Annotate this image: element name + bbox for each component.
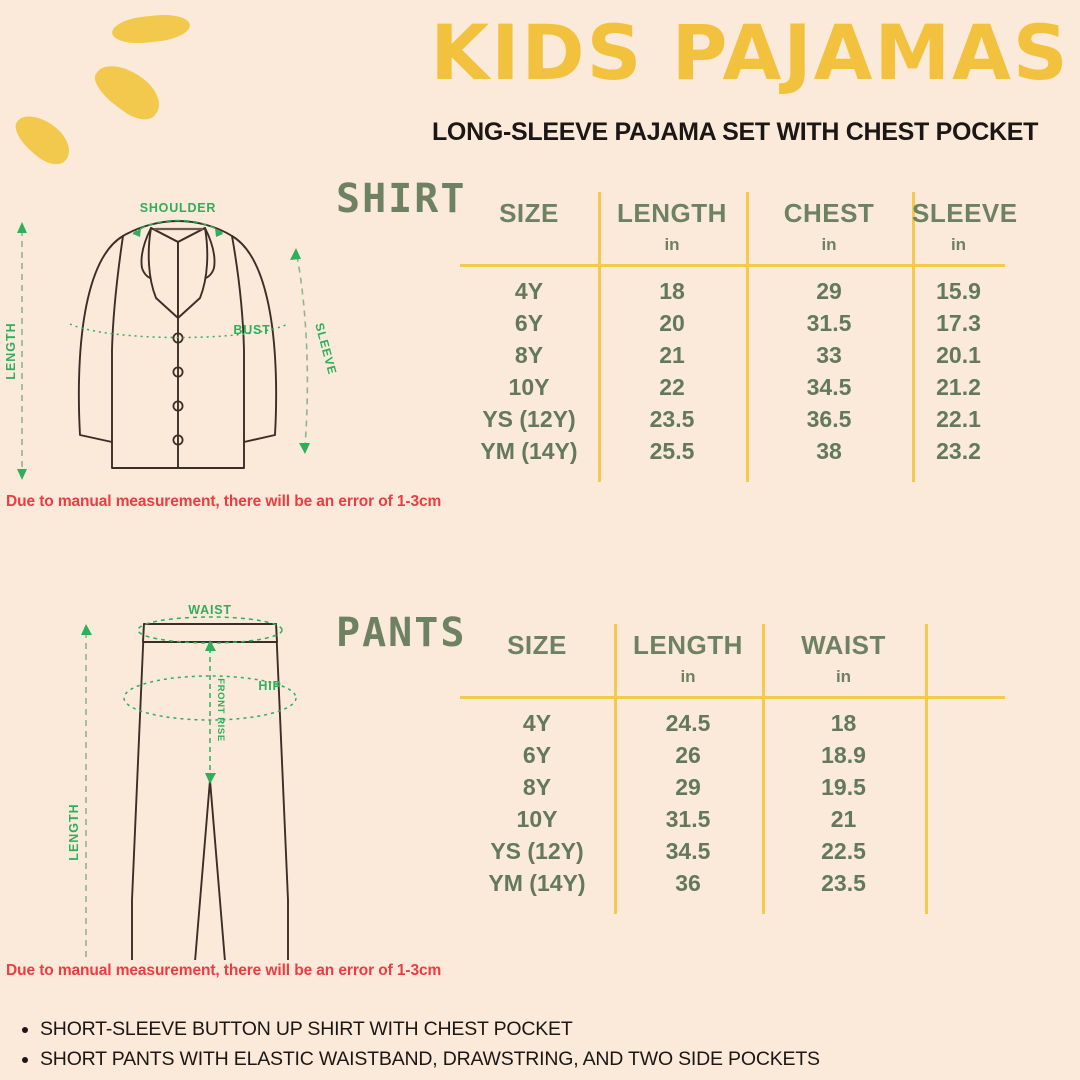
- pants-col-waist: WAIST in: [762, 630, 925, 687]
- shirt-cell-chest: 38: [746, 438, 912, 465]
- shirt-cell-sleeve: 20.1: [912, 342, 1005, 369]
- pants-cell-waist: 23.5: [762, 870, 925, 897]
- shirt-measurement-diagram: SHOULDER BUST LENGTH SLEEVE: [0, 190, 360, 490]
- pants-cell-size: YM (14Y): [460, 870, 614, 897]
- shirt-cell-chest: 33: [746, 342, 912, 369]
- shirt-cell-chest: 36.5: [746, 406, 912, 433]
- pants-label-front-rise: FRONT RISE: [215, 678, 226, 742]
- pants-label-hip: HIP: [258, 679, 281, 693]
- pants-col-length: LENGTH in: [614, 630, 762, 687]
- shirt-cell-sleeve: 15.9: [912, 278, 1005, 305]
- pants-cell-waist: 18: [762, 710, 925, 737]
- pants-cell-waist: 19.5: [762, 774, 925, 801]
- pants-size-table: SIZE LENGTH in WAIST in 4Y 24.5 18 6Y 26…: [460, 624, 1005, 914]
- pants-cell-waist: 18.9: [762, 742, 925, 769]
- pants-table-header-rule: [460, 696, 1005, 699]
- pants-cell-size: 8Y: [460, 774, 614, 801]
- shirt-cell-chest: 29: [746, 278, 912, 305]
- pants-table-divider-3: [925, 624, 928, 914]
- shirt-label-shoulder: SHOULDER: [140, 201, 217, 215]
- pants-cell-length: 26: [614, 742, 762, 769]
- decorative-blob-2: [88, 54, 169, 127]
- pants-label-waist: WAIST: [188, 603, 232, 617]
- shirt-disclaimer: Due to manual measurement, there will be…: [6, 493, 441, 511]
- pants-cell-length: 31.5: [614, 806, 762, 833]
- shirt-size-table: SIZE LENGTH in CHEST in SLEEVE in 4Y 18 …: [460, 192, 1005, 482]
- page-subtitle: LONG-SLEEVE PAJAMA SET WITH CHEST POCKET: [400, 118, 1070, 147]
- shirt-col-length: LENGTH in: [598, 198, 746, 255]
- pants-cell-waist: 22.5: [762, 838, 925, 865]
- pants-cell-length: 24.5: [614, 710, 762, 737]
- shirt-cell-sleeve: 22.1: [912, 406, 1005, 433]
- pants-cell-size: 6Y: [460, 742, 614, 769]
- pants-cell-size: 4Y: [460, 710, 614, 737]
- shirt-cell-sleeve: 17.3: [912, 310, 1005, 337]
- shirt-cell-size: 8Y: [460, 342, 598, 369]
- shirt-cell-length: 22: [598, 374, 746, 401]
- pants-cell-size: 10Y: [460, 806, 614, 833]
- shirt-label-bust: BUST: [233, 323, 270, 337]
- shirt-cell-sleeve: 21.2: [912, 374, 1005, 401]
- shirt-cell-chest: 31.5: [746, 310, 912, 337]
- decorative-blob-3: [8, 106, 77, 172]
- shirt-cell-size: 6Y: [460, 310, 598, 337]
- decorative-blob-1: [111, 12, 191, 46]
- shirt-cell-length: 23.5: [598, 406, 746, 433]
- pants-label-length: LENGTH: [67, 803, 81, 860]
- list-item: SHORT PANTS WITH ELASTIC WAISTBAND, DRAW…: [14, 1044, 914, 1074]
- shirt-table-header-rule: [460, 264, 1005, 267]
- shirt-cell-size: YM (14Y): [460, 438, 598, 465]
- pants-col-size: SIZE: [460, 630, 614, 661]
- pants-measurement-diagram: WAIST HIP FRONT RISE LENGTH: [60, 600, 360, 960]
- shirt-col-chest: CHEST in: [746, 198, 912, 255]
- feature-list: SHORT-SLEEVE BUTTON UP SHIRT WITH CHEST …: [14, 1014, 914, 1074]
- shirt-cell-length: 20: [598, 310, 746, 337]
- shirt-cell-length: 25.5: [598, 438, 746, 465]
- shirt-cell-length: 21: [598, 342, 746, 369]
- pants-cell-length: 34.5: [614, 838, 762, 865]
- shirt-cell-size: 10Y: [460, 374, 598, 401]
- pants-cell-length: 36: [614, 870, 762, 897]
- shirt-col-sleeve: SLEEVE in: [912, 198, 1005, 255]
- shirt-cell-size: 4Y: [460, 278, 598, 305]
- shirt-cell-sleeve: 23.2: [912, 438, 1005, 465]
- pants-cell-waist: 21: [762, 806, 925, 833]
- pants-cell-length: 29: [614, 774, 762, 801]
- shirt-cell-chest: 34.5: [746, 374, 912, 401]
- pants-cell-size: YS (12Y): [460, 838, 614, 865]
- shirt-cell-size: YS (12Y): [460, 406, 598, 433]
- shirt-col-size: SIZE: [460, 198, 598, 229]
- list-item: SHORT-SLEEVE BUTTON UP SHIRT WITH CHEST …: [14, 1014, 914, 1044]
- shirt-label-sleeve: SLEEVE: [312, 321, 339, 376]
- shirt-label-length: LENGTH: [4, 322, 18, 379]
- pants-disclaimer: Due to manual measurement, there will be…: [6, 962, 441, 980]
- shirt-cell-length: 18: [598, 278, 746, 305]
- page-title: KIDS PAJAMAS: [430, 10, 1070, 96]
